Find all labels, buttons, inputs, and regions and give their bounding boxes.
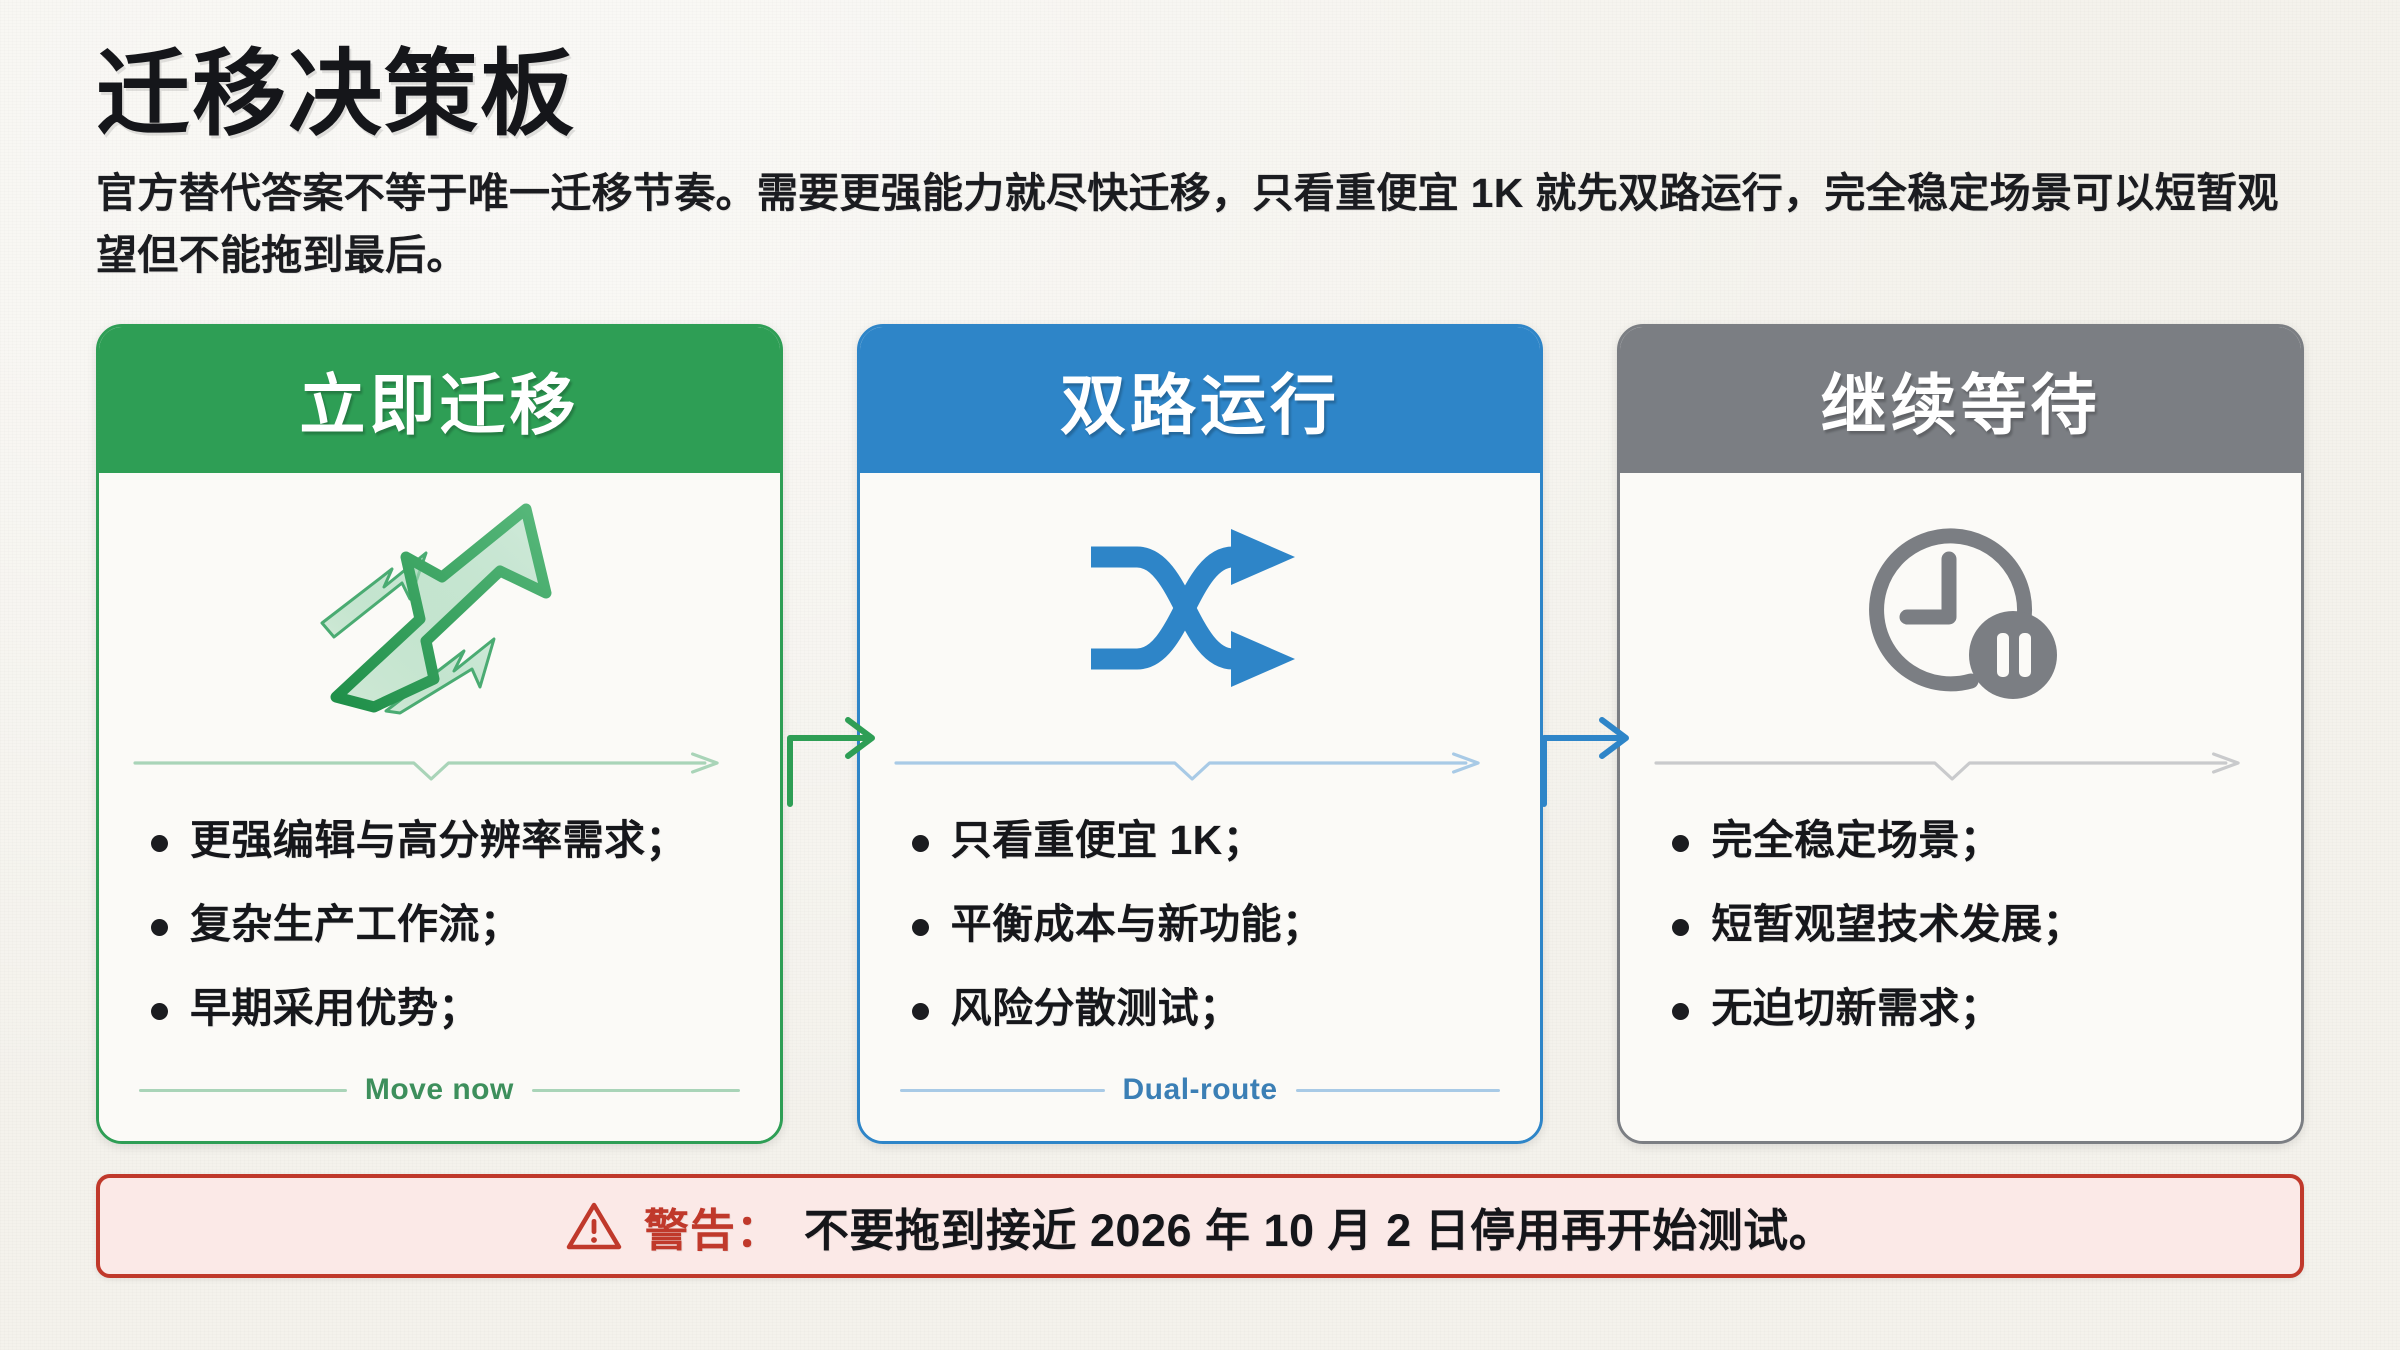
- card-divider-arrow: [894, 743, 1507, 789]
- bullet-text: 完全稳定场景；: [1711, 815, 2001, 865]
- warning-text: 不要拖到接近 2026 年 10 月 2 日停用再开始测试。: [804, 1194, 1834, 1259]
- card-footer-dual-route: Dual-route: [894, 1067, 1507, 1117]
- card-header-keep-waiting: 继续等待: [1620, 327, 2301, 473]
- list-item: 风险分散测试；: [912, 983, 1497, 1033]
- bullet-text: 早期采用优势；: [190, 983, 480, 1033]
- bullet-text: 风险分散测试；: [951, 983, 1241, 1033]
- footer-rule-right: [532, 1089, 740, 1092]
- infographic-page: 迁移决策板 官方替代答案不等于唯一迁移节奏。需要更强能力就尽快迁移，只看重便宜 …: [0, 0, 2400, 1278]
- card-bullets-keep-waiting: 完全稳定场景； 短暂观望技术发展； 无迫切新需求；: [1654, 789, 2267, 1067]
- bullet-text: 无迫切新需求；: [1711, 983, 2001, 1033]
- bullet-dot-icon: [151, 1003, 168, 1020]
- page-subtitle: 官方替代答案不等于唯一迁移节奏。需要更强能力就尽快迁移，只看重便宜 1K 就先双…: [96, 162, 2304, 287]
- bullet-text: 短暂观望技术发展；: [1711, 899, 2084, 949]
- bullet-dot-icon: [912, 1003, 929, 1020]
- bullet-text: 平衡成本与新功能；: [951, 899, 1324, 949]
- decision-cards: 立即迁移: [96, 324, 2304, 1144]
- bullet-dot-icon: [151, 919, 168, 936]
- bullet-dot-icon: [1672, 835, 1689, 852]
- footer-rule-right: [1979, 1089, 2261, 1092]
- list-item: 早期采用优势；: [151, 983, 736, 1033]
- warning-label: 警告：: [644, 1194, 782, 1259]
- card-footer-label: Dual-route: [1123, 1073, 1278, 1107]
- growth-arrow-icon: [133, 473, 746, 743]
- header-block: 迁移决策板 官方替代答案不等于唯一迁移节奏。需要更强能力就尽快迁移，只看重便宜 …: [96, 44, 2304, 286]
- card-body-keep-waiting: 完全稳定场景； 短暂观望技术发展； 无迫切新需求；: [1620, 473, 2301, 1141]
- list-item: 短暂观望技术发展；: [1672, 899, 2257, 949]
- card-body-migrate-now: 更强编辑与高分辨率需求； 复杂生产工作流； 早期采用优势； Move now: [99, 473, 780, 1141]
- warning-triangle-icon: [566, 1201, 622, 1251]
- list-item: 平衡成本与新功能；: [912, 899, 1497, 949]
- card-footer-keep-waiting: [1654, 1067, 2267, 1117]
- card-keep-waiting[interactable]: 继续等待: [1617, 324, 2304, 1144]
- bullet-text: 更强编辑与高分辨率需求；: [190, 815, 687, 865]
- bullet-dot-icon: [1672, 1003, 1689, 1020]
- shuffle-icon: [894, 473, 1507, 743]
- clock-pause-icon: [1654, 473, 2267, 743]
- card-header-migrate-now: 立即迁移: [99, 327, 780, 473]
- list-item: 更强编辑与高分辨率需求；: [151, 815, 736, 865]
- bullet-dot-icon: [1672, 919, 1689, 936]
- list-item: 复杂生产工作流；: [151, 899, 736, 949]
- card-footer-label: Move now: [365, 1073, 514, 1107]
- footer-rule-right: [1296, 1089, 1501, 1092]
- footer-rule-left: [900, 1089, 1105, 1092]
- list-item: 完全稳定场景；: [1672, 815, 2257, 865]
- card-footer-migrate-now: Move now: [133, 1067, 746, 1117]
- bullet-dot-icon: [151, 835, 168, 852]
- footer-rule-left: [139, 1089, 347, 1092]
- card-migrate-now[interactable]: 立即迁移: [96, 324, 783, 1144]
- card-body-dual-route: 只看重便宜 1K； 平衡成本与新功能； 风险分散测试； Dual-route: [860, 473, 1541, 1141]
- card-divider-arrow: [1654, 743, 2267, 789]
- footer-rule-left: [1660, 1089, 1942, 1092]
- list-item: 只看重便宜 1K；: [912, 815, 1497, 865]
- bullet-text: 只看重便宜 1K；: [951, 815, 1264, 865]
- card-bullets-dual-route: 只看重便宜 1K； 平衡成本与新功能； 风险分散测试；: [894, 789, 1507, 1067]
- page-title: 迁移决策板: [96, 44, 2304, 144]
- bullet-dot-icon: [912, 919, 929, 936]
- card-bullets-migrate-now: 更强编辑与高分辨率需求； 复杂生产工作流； 早期采用优势；: [133, 789, 746, 1067]
- list-item: 无迫切新需求；: [1672, 983, 2257, 1033]
- warning-banner: 警告： 不要拖到接近 2026 年 10 月 2 日停用再开始测试。: [96, 1174, 2304, 1278]
- bullet-text: 复杂生产工作流；: [190, 899, 521, 949]
- card-divider-arrow: [133, 743, 746, 789]
- bullet-dot-icon: [912, 835, 929, 852]
- card-header-dual-route: 双路运行: [860, 327, 1541, 473]
- card-dual-route[interactable]: 双路运行: [857, 324, 1544, 1144]
